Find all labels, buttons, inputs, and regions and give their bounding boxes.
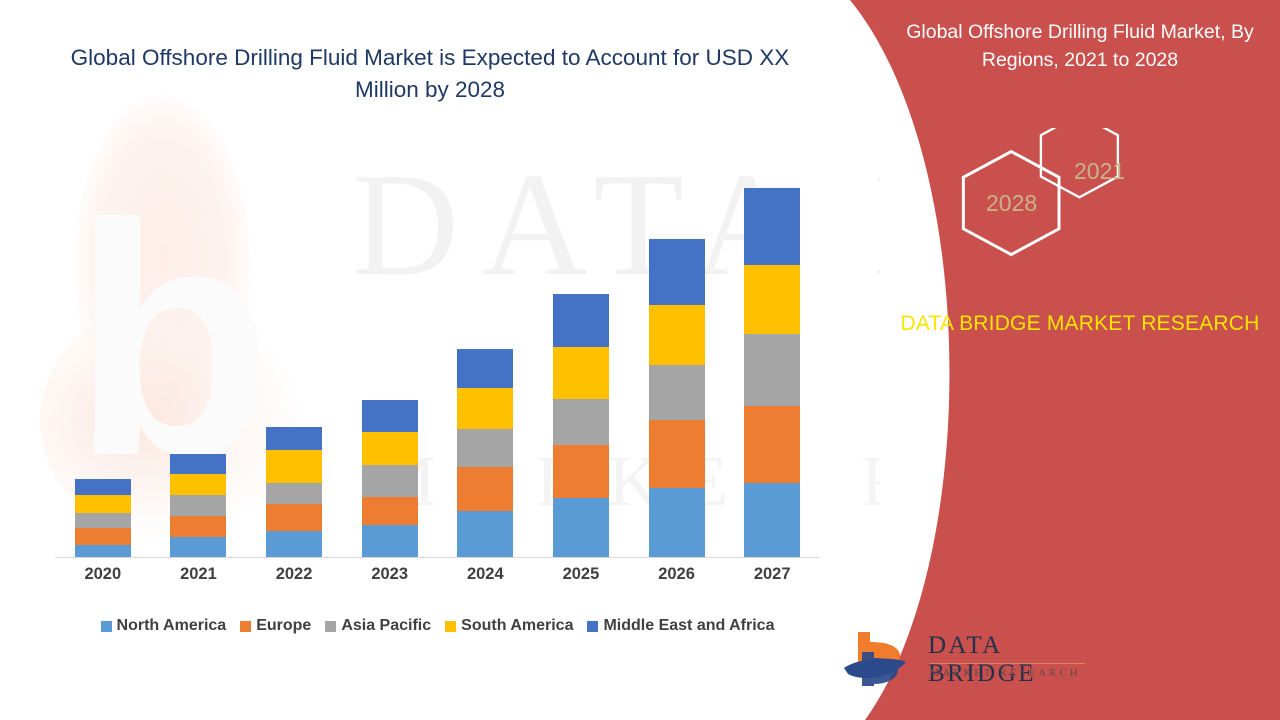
bar-segment[interactable] — [362, 525, 418, 558]
stacked-bar[interactable] — [457, 349, 513, 558]
bar-segment[interactable] — [170, 495, 226, 516]
bar-segment[interactable] — [744, 265, 800, 335]
bar-segment[interactable] — [744, 188, 800, 265]
bar-segment[interactable] — [553, 445, 609, 499]
company-logo: DATA BRIDGE MARKET RESEARCH — [840, 628, 1090, 694]
bar-segment[interactable] — [649, 420, 705, 489]
bar-segment[interactable] — [457, 349, 513, 388]
bar-segment[interactable] — [266, 427, 322, 450]
stacked-bar[interactable] — [553, 294, 609, 558]
x-axis-label: 2020 — [58, 565, 148, 584]
bar-segment[interactable] — [457, 511, 513, 558]
legend-label: North America — [117, 617, 227, 635]
hexagon-shapes — [950, 128, 1170, 278]
legend-label: Europe — [256, 617, 311, 635]
bar-segment[interactable] — [649, 305, 705, 365]
bar-segment[interactable] — [266, 450, 322, 484]
legend-label: South America — [461, 617, 573, 635]
stacked-bar[interactable] — [362, 400, 418, 558]
x-axis-label: 2023 — [345, 565, 435, 584]
stacked-bar[interactable] — [266, 427, 322, 558]
legend-item[interactable]: South America — [445, 617, 573, 635]
bar-segment[interactable] — [457, 467, 513, 511]
legend-item[interactable]: North America — [101, 617, 227, 635]
stacked-bar[interactable] — [744, 188, 800, 558]
hexagon-group: 2021 2028 — [950, 128, 1170, 278]
bar-segment[interactable] — [457, 429, 513, 468]
legend-swatch-icon — [587, 621, 598, 632]
legend-label: Middle East and Africa — [603, 617, 774, 635]
decorative-circle — [820, 430, 920, 650]
bar-segment[interactable] — [75, 528, 131, 545]
x-axis-label: 2024 — [440, 565, 530, 584]
bar-segment[interactable] — [170, 537, 226, 558]
bar-segment[interactable] — [553, 347, 609, 399]
x-axis-label: 2027 — [727, 565, 817, 584]
legend-item[interactable]: Europe — [240, 617, 311, 635]
chart-panel: b DATA BRIDGE MARKET RESEARCH Global Off… — [0, 0, 880, 720]
bar-segment[interactable] — [362, 432, 418, 466]
hexagon-label-2021: 2021 — [1074, 158, 1125, 185]
bar-segment[interactable] — [649, 365, 705, 420]
bar-segment[interactable] — [266, 504, 322, 531]
bar-segment[interactable] — [649, 239, 705, 306]
stacked-bar[interactable] — [75, 479, 131, 558]
stacked-bar[interactable] — [649, 239, 705, 558]
x-axis-label: 2021 — [153, 565, 243, 584]
bar-segment[interactable] — [553, 294, 609, 347]
bar-segment[interactable] — [170, 474, 226, 495]
bar-segment[interactable] — [362, 465, 418, 497]
bar-segment[interactable] — [75, 495, 131, 513]
legend-swatch-icon — [445, 621, 456, 632]
x-axis-labels: 20202021202220232024202520262027 — [55, 565, 820, 595]
bar-segment[interactable] — [744, 483, 800, 558]
legend-label: Asia Pacific — [341, 617, 431, 635]
bar-segment[interactable] — [744, 334, 800, 406]
legend-swatch-icon — [240, 621, 251, 632]
x-axis-label: 2022 — [249, 565, 339, 584]
bar-segment[interactable] — [75, 479, 131, 495]
right-info-panel: Global Offshore Drilling Fluid Market, B… — [820, 0, 1280, 720]
bar-segment[interactable] — [266, 531, 322, 558]
hexagon-label-2028: 2028 — [986, 190, 1037, 217]
legend-swatch-icon — [325, 621, 336, 632]
logo-text: DATA BRIDGE — [928, 632, 1090, 688]
bar-segment[interactable] — [553, 399, 609, 445]
legend-swatch-icon — [101, 621, 112, 632]
brand-name: DATA BRIDGE MARKET RESEARCH — [880, 308, 1280, 339]
logo-subtext: MARKET RESEARCH — [930, 668, 1081, 679]
bar-segment[interactable] — [170, 454, 226, 475]
x-axis-label: 2026 — [632, 565, 722, 584]
bar-segment[interactable] — [75, 513, 131, 528]
stacked-bar[interactable] — [170, 454, 226, 558]
chart-title: Global Offshore Drilling Fluid Market is… — [55, 42, 805, 106]
chart-legend: North AmericaEuropeAsia PacificSouth Ame… — [55, 617, 820, 635]
x-axis-line — [55, 557, 820, 558]
legend-item[interactable]: Middle East and Africa — [587, 617, 774, 635]
logo-divider — [930, 663, 1085, 664]
bar-segment[interactable] — [457, 388, 513, 429]
bar-segment[interactable] — [266, 483, 322, 504]
bar-segment[interactable] — [362, 400, 418, 432]
bar-segment[interactable] — [744, 406, 800, 484]
bar-segment[interactable] — [553, 498, 609, 558]
bar-segment[interactable] — [649, 488, 705, 558]
panel-title: Global Offshore Drilling Fluid Market, B… — [900, 18, 1260, 74]
x-axis-label: 2025 — [536, 565, 626, 584]
legend-item[interactable]: Asia Pacific — [325, 617, 431, 635]
plot-area — [55, 160, 820, 558]
bar-segment[interactable] — [362, 497, 418, 525]
logo-mark-icon — [840, 628, 920, 690]
bar-segment[interactable] — [170, 516, 226, 537]
